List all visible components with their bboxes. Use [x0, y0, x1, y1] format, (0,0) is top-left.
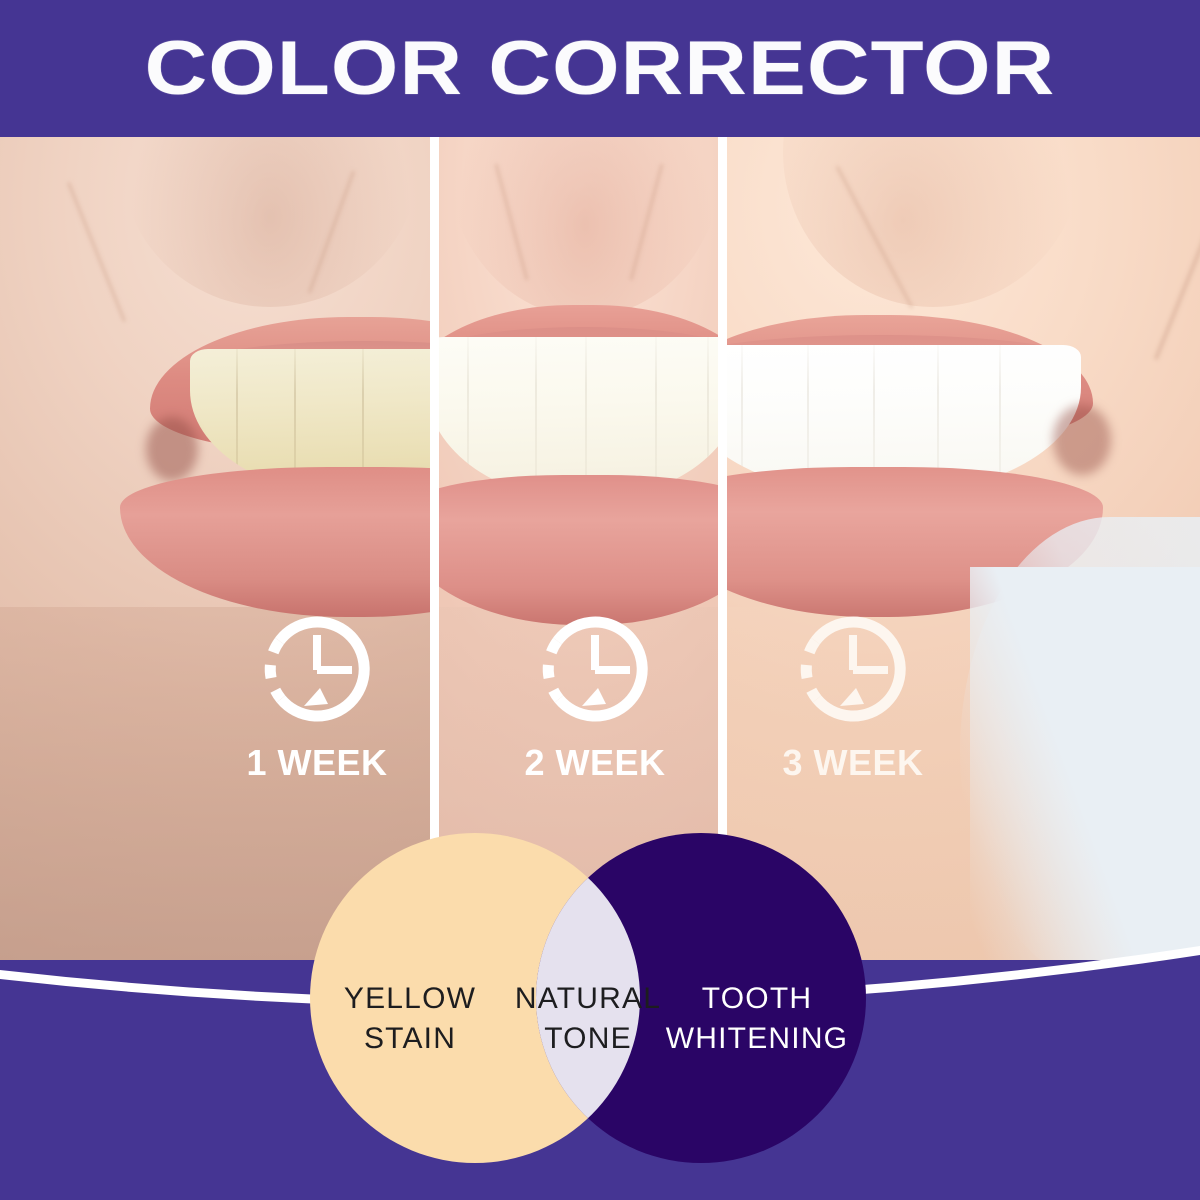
timeline-badge-week-1: 1 WEEK: [217, 607, 417, 781]
venn-label-natural-line2: TONE: [544, 1022, 632, 1055]
clock-arrowhead: [840, 688, 864, 706]
clock-arrow-icon: [532, 607, 658, 733]
timeline-badge-label: 3 WEEK: [753, 745, 953, 781]
venn-label-yellow-line2: STAIN: [364, 1022, 456, 1055]
mouth-corner-shadow: [1053, 405, 1111, 475]
clock-hands: [853, 635, 888, 670]
timeline-badge-week-2: 2 WEEK: [495, 607, 695, 781]
venn-label-natural-line1: NATURAL: [515, 982, 661, 1015]
clock-arrowhead: [304, 688, 328, 706]
clock-arrow-icon: [254, 607, 380, 733]
mouth-corner-shadow: [146, 417, 198, 481]
clock-arrowhead: [582, 688, 606, 706]
timeline-badge-label: 2 WEEK: [495, 745, 695, 781]
clock-hands: [595, 635, 630, 670]
photo-background-right: [970, 567, 1200, 960]
timeline-badge-label: 1 WEEK: [217, 745, 417, 781]
lower-lip: [435, 475, 723, 625]
venn-label-whitening-line1: TOOTH: [702, 982, 812, 1015]
clock-hands: [317, 635, 352, 670]
clock-dashed-arc: [806, 641, 817, 699]
clock-dashed-arc: [548, 641, 559, 699]
venn-diagram: YELLOW STAIN NATURAL TONE TOOTH WHITENIN…: [310, 833, 866, 1163]
venn-label-whitening-line2: WHITENING: [666, 1022, 848, 1055]
page-title: COLOR CORRECTOR: [0, 0, 1200, 137]
clock-dashed-arc: [270, 641, 281, 699]
header-banner: COLOR CORRECTOR: [0, 0, 1200, 137]
clock-arrow-icon: [790, 607, 916, 733]
product-infographic: COLOR CORRECTOR: [0, 0, 1200, 1200]
venn-label-yellow-line1: YELLOW: [344, 982, 476, 1015]
timeline-badge-week-3: 3 WEEK: [753, 607, 953, 781]
